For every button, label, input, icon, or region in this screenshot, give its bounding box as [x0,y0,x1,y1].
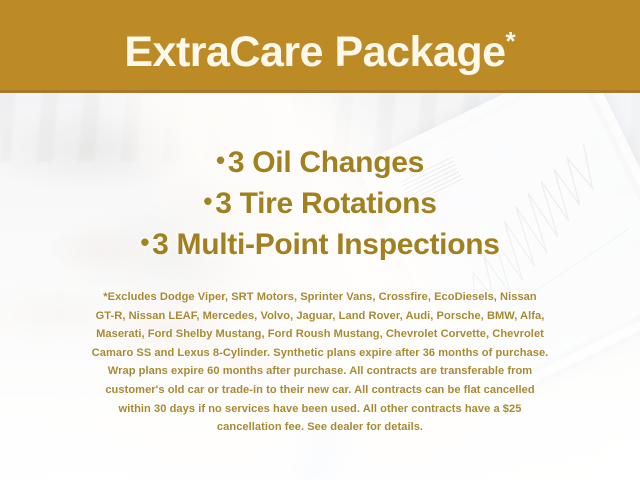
benefit-item-label: 3 Oil Changes [228,146,424,179]
bullet-dot-icon: • [203,186,212,216]
benefit-item-label: 3 Tire Rotations [215,187,436,220]
bullet-dot-icon: • [140,227,149,257]
disclaimer-line: customer's old car or trade-in to their … [22,381,618,400]
benefit-item-label: 3 Multi-Point Inspections [152,228,500,261]
header-band: ExtraCare Package* [0,0,640,93]
disclaimer-line: within 30 days if no services have been … [22,400,618,419]
page-title-asterisk: * [506,26,516,56]
benefit-item-tire-rotations: •3 Tire Rotations [0,182,640,223]
extracare-package-promo-card: ExtraCare Package* •3 Oil Changes •3 Tir… [0,0,640,480]
bullet-dot-icon: • [216,145,225,175]
benefit-item-multi-point-inspections: •3 Multi-Point Inspections [0,223,640,264]
benefits-list: •3 Oil Changes •3 Tire Rotations •3 Mult… [0,141,640,264]
page-title: ExtraCare Package* [0,11,640,82]
disclaimer-text: *Excludes Dodge Viper, SRT Motors, Sprin… [22,288,618,437]
disclaimer-line: cancellation fee. See dealer for details… [22,418,618,437]
disclaimer-line: Wrap plans expire 60 months after purcha… [22,362,618,381]
page-title-text: ExtraCare Package [124,28,505,76]
disclaimer-line: GT-R, Nissan LEAF, Mercedes, Volvo, Jagu… [22,307,618,326]
disclaimer-line: *Excludes Dodge Viper, SRT Motors, Sprin… [22,288,618,307]
disclaimer-line: Camaro SS and Lexus 8-Cylinder. Syntheti… [22,344,618,363]
benefit-item-oil-changes: •3 Oil Changes [0,141,640,182]
disclaimer-line: Maserati, Ford Shelby Mustang, Ford Rous… [22,325,618,344]
